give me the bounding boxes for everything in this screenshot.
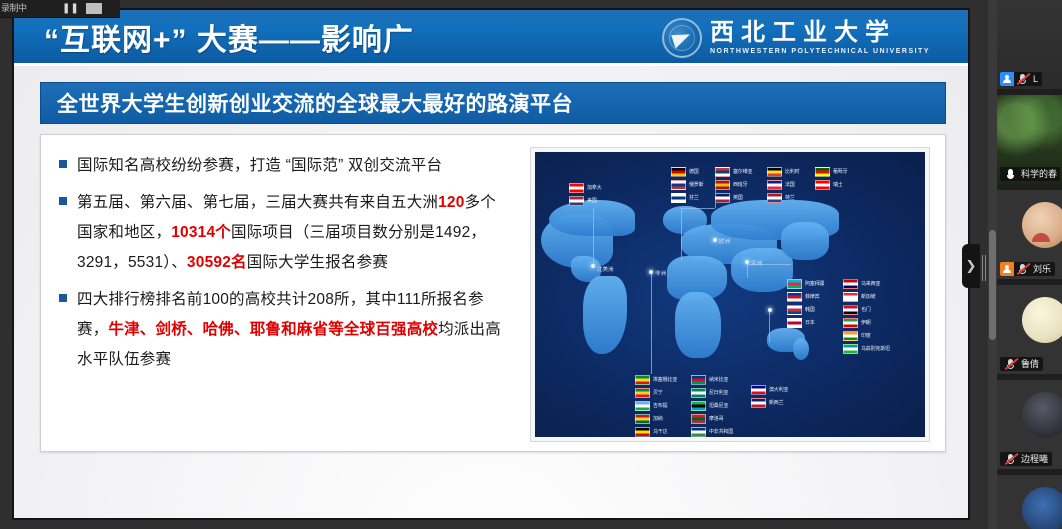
slide-background: “互联网+” 大赛——影响广 西北工业大学 NORTHWESTERN POLYT… (14, 10, 968, 518)
bullet-text-2: 第五届、第六届、第七届，三届大赛共有来自五大洲120多个国家和地区，10314个… (77, 188, 509, 278)
flag-row: 英国 (715, 192, 752, 203)
flag-country-label: 加纳 (653, 415, 663, 422)
flag-row: 德国 (671, 166, 703, 177)
flag-row: 日本 (787, 317, 824, 328)
flag-country-label: 贝宁 (653, 389, 663, 396)
square-bullet-icon (59, 160, 67, 168)
flag-row: 塞尔维亚 (715, 166, 752, 177)
flag-icon (767, 167, 782, 177)
flag-country-label: 也门 (861, 306, 871, 313)
participant-badge: L (1000, 72, 1042, 86)
participant-tile-list: L科学的春刘乐鲁倩边程曦 (997, 0, 1062, 529)
flag-row: 荷兰 (767, 192, 799, 203)
panel-resize-grip[interactable] (982, 255, 988, 281)
flag-icon (671, 167, 686, 177)
flag-row: 乌干达 (635, 426, 677, 437)
flag-group-asia-2: 马来西亚新加坡也门伊朗印度乌兹别克斯坦 (843, 278, 890, 354)
flag-icon (843, 331, 858, 341)
chevron-right-icon: ❯ (966, 258, 977, 274)
flag-icon (569, 196, 584, 206)
bullet-text-3: 四大排行榜排名前100的高校共计208所，其中111所报名参赛，牛津、剑桥、哈佛… (77, 285, 509, 375)
mic-on-icon (1004, 167, 1018, 181)
participant-name: 边程曦 (1020, 452, 1048, 466)
flag-country-label: 葡萄牙 (833, 168, 847, 175)
flag-row: 吉布提 (635, 400, 677, 411)
participant-tile[interactable]: 科学的春 (997, 95, 1062, 184)
flag-country-label: 韩国 (805, 306, 815, 313)
flag-group-europe-4: 葡萄牙瑞士 (815, 166, 847, 190)
flag-icon (671, 193, 686, 203)
flag-icon (843, 292, 858, 302)
flag-icon (787, 318, 802, 328)
flag-icon (671, 180, 686, 190)
participant-tile[interactable] (997, 475, 1062, 529)
flag-group-africa-2: 纳米比亚尼日利亚坦桑尼亚摩洛哥中非共和国 (691, 374, 733, 437)
flag-row: 西班牙 (715, 179, 752, 190)
slide-subtitle-band: 全世界大学生创新创业交流的全球最大最好的路演平台 (40, 82, 946, 124)
collapse-panel-button[interactable]: ❯ (962, 244, 980, 288)
flag-country-label: 法国 (785, 181, 795, 188)
bullet-text-1: 国际知名高校纷纷参赛，打造 “国际范” 双创交流平台 (77, 151, 442, 181)
flag-icon (843, 344, 858, 354)
flag-group-asia-1: 阿塞拜疆菲律宾韩国日本 (787, 278, 824, 328)
flag-row: 贝宁 (635, 387, 677, 398)
meeting-window: 录制中 ❚❚ “互联网+” 大赛——影响广 西北工业大学 NORTHWESTER… (0, 0, 1062, 529)
npu-crest-icon (662, 18, 702, 58)
presentation-slide: “互联网+” 大赛——影响广 西北工业大学 NORTHWESTERN POLYT… (12, 8, 970, 520)
person-badge-icon (1000, 262, 1014, 276)
participant-tile[interactable]: L (997, 0, 1062, 89)
flag-country-label: 瑞士 (833, 181, 843, 188)
avatar (1022, 392, 1062, 438)
list-item: 国际知名高校纷纷参赛，打造 “国际范” 双创交流平台 (59, 151, 509, 181)
rail-scrollbar[interactable] (988, 0, 997, 529)
mic-muted-icon (1004, 452, 1018, 466)
flag-row: 瑞士 (815, 179, 847, 190)
flag-country-label: 中非共和国 (709, 428, 733, 435)
flag-country-label: 摩洛哥 (709, 415, 723, 422)
flag-row: 法国 (767, 179, 799, 190)
participant-tile[interactable]: 鲁倩 (997, 285, 1062, 374)
flag-row: 比利时 (767, 166, 799, 177)
flag-country-label: 新加坡 (861, 293, 875, 300)
person-badge-icon (1000, 72, 1014, 86)
flag-row: 芬兰 (671, 192, 703, 203)
recording-label: 录制中 (1, 1, 27, 14)
flag-country-label: 马来西亚 (861, 280, 880, 287)
mic-muted-icon (1016, 262, 1030, 276)
rail-scrollbar-thumb[interactable] (989, 230, 996, 340)
flag-country-label: 德国 (689, 168, 699, 175)
flag-row: 新加坡 (843, 291, 890, 302)
participant-name: 科学的春 (1020, 167, 1057, 181)
flag-row: 伊朗 (843, 317, 890, 328)
continent-label-europe: 欧洲 (719, 237, 730, 245)
world-map-figure: 北美洲 欧洲 亚洲 非洲 加拿大美国 德国俄罗斯芬兰 塞尔维亚西班牙英国 比利时… (530, 147, 930, 442)
flag-icon (843, 305, 858, 315)
flag-icon (767, 180, 782, 190)
flag-icon (751, 385, 766, 395)
flag-icon (691, 427, 706, 437)
flag-icon (635, 388, 650, 398)
flag-country-label: 荷兰 (785, 194, 795, 201)
flag-group-europe-3: 比利时法国荷兰 (767, 166, 799, 203)
flag-icon (635, 375, 650, 385)
university-name-cn: 西北工业大学 (710, 21, 930, 46)
participant-badge: 刘乐 (1000, 262, 1055, 276)
stop-recording-button[interactable] (86, 3, 102, 14)
flag-country-label: 比利时 (785, 168, 799, 175)
flag-icon (691, 414, 706, 424)
participant-rail: L科学的春刘乐鲁倩边程曦 (988, 0, 1062, 529)
flag-row: 加拿大 (569, 182, 601, 193)
flag-icon (635, 414, 650, 424)
pause-recording-button[interactable]: ❚❚ (62, 3, 78, 14)
flag-country-label: 印度 (861, 332, 871, 339)
flag-group-europe-2: 塞尔维亚西班牙英国 (715, 166, 752, 203)
flag-country-label: 乌兹别克斯坦 (861, 345, 890, 352)
flag-icon (715, 193, 730, 203)
flag-row: 新西兰 (751, 397, 788, 408)
flag-icon (843, 279, 858, 289)
flag-country-label: 菲律宾 (805, 293, 819, 300)
slide-title: “互联网+” 大赛——影响广 (44, 15, 414, 59)
square-bullet-icon (59, 294, 67, 302)
participant-video (997, 475, 1062, 529)
flag-country-label: 俄罗斯 (689, 181, 703, 188)
list-item: 四大排行榜排名前100的高校共计208所，其中111所报名参赛，牛津、剑桥、哈佛… (59, 285, 509, 375)
flag-group-north-america: 加拿大美国 (569, 182, 601, 206)
flag-row: 也门 (843, 304, 890, 315)
flag-icon (787, 279, 802, 289)
flag-icon (715, 167, 730, 177)
flag-icon (569, 183, 584, 193)
participant-name: L (1032, 72, 1038, 86)
continent-label-asia: 亚洲 (751, 259, 762, 267)
participant-badge: 边程曦 (1000, 452, 1052, 466)
flag-row: 韩国 (787, 304, 824, 315)
flag-row: 马来西亚 (843, 278, 890, 289)
avatar (1022, 297, 1062, 343)
flag-country-label: 纳米比亚 (709, 376, 728, 383)
flag-row: 加纳 (635, 413, 677, 424)
list-item: 第五届、第六届、第七届，三届大赛共有来自五大洲120多个国家和地区，10314个… (59, 188, 509, 278)
flag-row: 乌兹别克斯坦 (843, 343, 890, 354)
flag-country-label: 伊朗 (861, 319, 871, 326)
mic-muted-icon (1016, 72, 1030, 86)
flag-icon (691, 375, 706, 385)
participant-name: 鲁倩 (1020, 357, 1039, 371)
continent-label-africa: 非洲 (655, 269, 666, 277)
flag-row: 印度 (843, 330, 890, 341)
flag-group-oceania: 澳大利亚新西兰 (751, 384, 788, 408)
flag-row: 澳大利亚 (751, 384, 788, 395)
flag-icon (691, 388, 706, 398)
flag-country-label: 吉布提 (653, 402, 667, 409)
flag-icon (787, 292, 802, 302)
flag-country-label: 美国 (587, 197, 597, 204)
mic-muted-icon (1004, 357, 1018, 371)
participant-name: 刘乐 (1032, 262, 1051, 276)
shared-screen-stage: “互联网+” 大赛——影响广 西北工业大学 NORTHWESTERN POLYT… (0, 0, 988, 529)
square-bullet-icon (59, 197, 67, 205)
flag-country-label: 埃塞俄比亚 (653, 376, 677, 383)
flag-icon (715, 180, 730, 190)
slide-header-band: “互联网+” 大赛——影响广 西北工业大学 NORTHWESTERN POLYT… (14, 10, 968, 66)
flag-icon (635, 401, 650, 411)
flag-row: 俄罗斯 (671, 179, 703, 190)
slide-subtitle: 全世界大学生创新创业交流的全球最大最好的路演平台 (41, 88, 573, 118)
flag-icon (843, 318, 858, 328)
flag-icon (815, 167, 830, 177)
flag-country-label: 日本 (805, 319, 815, 326)
flag-icon (751, 398, 766, 408)
flag-group-europe-1: 德国俄罗斯芬兰 (671, 166, 703, 203)
flag-row: 埃塞俄比亚 (635, 374, 677, 385)
bullet-list: 国际知名高校纷纷参赛，打造 “国际范” 双创交流平台 第五届、第六届、第七届，三… (41, 135, 515, 451)
flag-row: 中非共和国 (691, 426, 733, 437)
flag-icon (787, 305, 802, 315)
flag-country-label: 塞尔维亚 (733, 168, 752, 175)
flag-row: 坦桑尼亚 (691, 400, 733, 411)
flag-country-label: 芬兰 (689, 194, 699, 201)
flag-icon (691, 401, 706, 411)
flag-icon (767, 193, 782, 203)
continent-label-north-america: 北美洲 (597, 265, 614, 273)
flag-country-label: 英国 (733, 194, 743, 201)
flag-row: 尼日利亚 (691, 387, 733, 398)
flag-country-label: 阿塞拜疆 (805, 280, 824, 287)
flag-icon (815, 180, 830, 190)
recording-toolbar[interactable]: 录制中 ❚❚ (0, 0, 120, 18)
university-logo-text: 西北工业大学 NORTHWESTERN POLYTECHNICAL UNIVER… (710, 21, 930, 54)
flag-row: 阿塞拜疆 (787, 278, 824, 289)
flag-row: 摩洛哥 (691, 413, 733, 424)
flag-country-label: 澳大利亚 (769, 386, 788, 393)
university-name-en: NORTHWESTERN POLYTECHNICAL UNIVERSITY (710, 48, 930, 55)
flag-country-label: 加拿大 (587, 184, 601, 191)
flag-country-label: 新西兰 (769, 399, 783, 406)
flag-row: 菲律宾 (787, 291, 824, 302)
world-map-canvas: 北美洲 欧洲 亚洲 非洲 加拿大美国 德国俄罗斯芬兰 塞尔维亚西班牙英国 比利时… (535, 152, 925, 437)
flag-row: 葡萄牙 (815, 166, 847, 177)
flag-country-label: 乌干达 (653, 428, 667, 435)
flag-country-label: 西班牙 (733, 181, 747, 188)
participant-badge: 鲁倩 (1000, 357, 1043, 371)
flag-row: 纳米比亚 (691, 374, 733, 385)
university-logo: 西北工业大学 NORTHWESTERN POLYTECHNICAL UNIVER… (662, 16, 930, 60)
avatar (1022, 202, 1062, 248)
flag-country-label: 坦桑尼亚 (709, 402, 728, 409)
participant-tile[interactable]: 刘乐 (997, 190, 1062, 279)
flag-country-label: 尼日利亚 (709, 389, 728, 396)
flag-icon (635, 427, 650, 437)
avatar (1022, 487, 1062, 529)
flag-row: 美国 (569, 195, 601, 206)
participant-badge: 科学的春 (1000, 167, 1060, 181)
participant-tile[interactable]: 边程曦 (997, 380, 1062, 469)
flag-group-africa-1: 埃塞俄比亚贝宁吉布提加纳乌干达 (635, 374, 677, 437)
